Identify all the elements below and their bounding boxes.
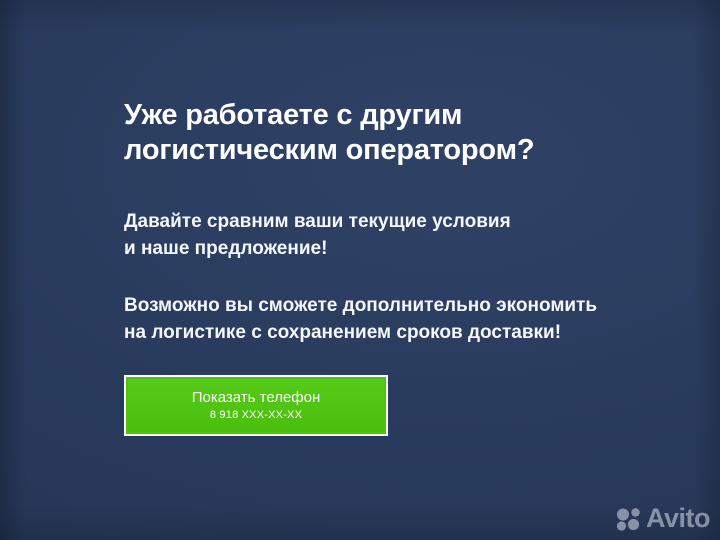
ad-banner: Уже работаете с другим логистическим опе… (0, 0, 720, 540)
top-vignette (0, 0, 720, 30)
show-phone-button-label: Показать телефон (192, 388, 321, 407)
body-paragraph-1: Давайте сравним ваши текущие условия и н… (124, 208, 624, 262)
right-vignette (694, 0, 720, 540)
avito-dots-logo-icon (616, 507, 642, 531)
bottom-vignette (0, 506, 720, 540)
headline-line-2: логистическим оператором? (124, 133, 624, 168)
body-paragraph-2: Возможно вы сможете дополнительно эконом… (124, 292, 624, 346)
body-paragraph-2-line-1: Возможно вы сможете дополнительно эконом… (124, 292, 624, 319)
body-paragraph-1-line-2: и наше предложение! (124, 235, 624, 262)
body-paragraph-2-line-2: на логистике с сохранением сроков достав… (124, 319, 624, 346)
phone-number-masked: 8 918 XXX-XX-XX (210, 408, 302, 423)
left-vignette (0, 0, 26, 540)
show-phone-button[interactable]: Показать телефон 8 918 XXX-XX-XX (124, 375, 388, 436)
headline: Уже работаете с другим логистическим опе… (124, 98, 624, 168)
headline-line-1: Уже работаете с другим (124, 98, 624, 133)
ad-content: Уже работаете с другим логистическим опе… (124, 98, 624, 346)
avito-watermark: Avito (616, 505, 710, 532)
body-paragraph-1-line-1: Давайте сравним ваши текущие условия (124, 208, 624, 235)
avito-wordmark: Avito (646, 505, 710, 532)
